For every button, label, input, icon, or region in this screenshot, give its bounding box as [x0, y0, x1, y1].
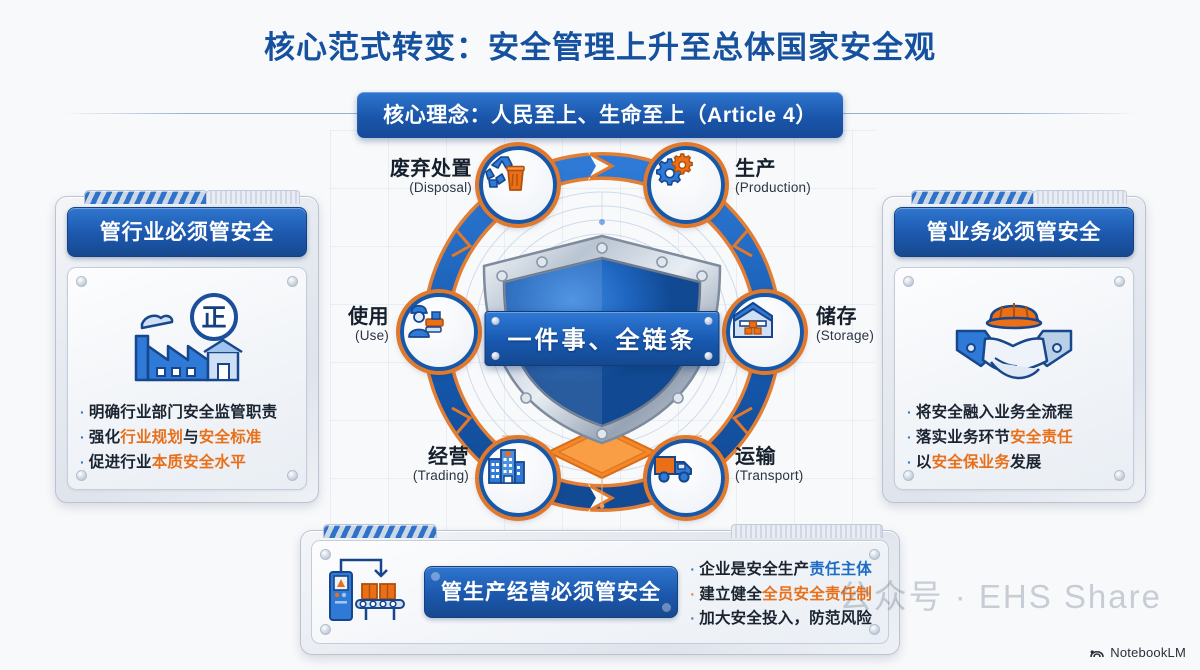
- node-label-production: 生产 (Production): [735, 158, 811, 196]
- text-run: 本质安全水平: [152, 454, 246, 471]
- panel-body-business: ·将安全融入业务全流程 ·落实业务环节安全责任 ·以安全保业务发展: [894, 267, 1134, 490]
- office-building-icon: [483, 443, 529, 489]
- handshake-helmet-icon: [907, 282, 1121, 394]
- list-item: ·强化行业规划与安全标准: [80, 425, 294, 450]
- node-label-trading: 经营 (Trading): [364, 446, 469, 484]
- subtitle-banner: 核心理念：人民至上、生命至上（Article 4）: [357, 92, 843, 138]
- text-run: 安全保业务: [932, 454, 1011, 471]
- center-banner-text: 一件事、全链条: [508, 327, 697, 354]
- node-label-transport: 运输 (Transport): [735, 446, 803, 484]
- production-line-icon: [326, 554, 414, 631]
- slide-canvas: 核心范式转变：安全管理上升至总体国家安全观 核心理念：人民至上、生命至上（Art…: [0, 0, 1200, 670]
- list-item: ·促进行业本质安全水平: [80, 450, 294, 475]
- text-run: 强化: [89, 429, 120, 446]
- panel-body-production-operations: 管生产经营必须管安全 ·企业是安全生产责任主体 ·建立健全全员安全责任制 ·加大…: [311, 540, 889, 644]
- list-item: ·落实业务环节安全责任: [907, 425, 1121, 450]
- notebooklm-logo-icon: [1090, 646, 1105, 659]
- panel-heading-industry: 管行业必须管安全: [67, 207, 307, 257]
- text-run: 建立健全: [699, 586, 762, 603]
- text-run: 与: [183, 429, 199, 446]
- warehouse-icon: [730, 297, 776, 343]
- text-run: 企业是安全生产: [699, 561, 809, 578]
- node-storage[interactable]: [726, 293, 804, 371]
- node-disposal[interactable]: [479, 146, 557, 224]
- worker-tool-icon: [404, 297, 450, 343]
- notebooklm-badge: NotebookLM: [1090, 645, 1186, 660]
- node-transport[interactable]: [647, 439, 725, 517]
- text-run: 发展: [1010, 454, 1041, 471]
- screw-icon: [320, 549, 331, 560]
- bottom-tag-label: 管生产经营必须管安全: [424, 566, 678, 618]
- screw-icon: [869, 624, 880, 635]
- text-run: 明确行业部门安全监管职责: [89, 404, 277, 421]
- node-label-storage: 储存 (Storage): [816, 306, 874, 344]
- watermark-text: 公众号 · EHS Share: [839, 570, 1162, 618]
- text-run: 安全标准: [199, 429, 262, 446]
- text-run: 促进行业: [89, 454, 152, 471]
- panel-production-operations: 管生产经营必须管安全 ·企业是安全生产责任主体 ·建立健全全员安全责任制 ·加大…: [300, 530, 900, 655]
- panel-frame: 管业务必须管安全: [882, 196, 1146, 503]
- screw-icon: [903, 470, 914, 481]
- text-run: 将安全融入业务全流程: [916, 404, 1073, 421]
- node-use[interactable]: [400, 293, 478, 371]
- notebooklm-label: NotebookLM: [1110, 645, 1186, 660]
- screw-icon: [320, 624, 331, 635]
- node-production[interactable]: [647, 146, 725, 224]
- panel-business: 管业务必须管安全: [882, 196, 1146, 503]
- lifecycle-diagram: 一件事、全链条 生产 (Production): [352, 136, 852, 528]
- text-run: 安全责任: [1010, 429, 1073, 446]
- panel-frame: 管行业必须管安全: [55, 196, 319, 503]
- node-label-use: 使用 (Use): [284, 306, 389, 344]
- bullet-list-industry: ·明确行业部门安全监管职责 ·强化行业规划与安全标准 ·促进行业本质安全水平: [80, 400, 294, 475]
- list-item: ·明确行业部门安全监管职责: [80, 400, 294, 425]
- panel-heading-business: 管业务必须管安全: [894, 207, 1134, 257]
- screw-icon: [1114, 470, 1125, 481]
- screw-icon: [287, 276, 298, 287]
- factory-icon: 正: [80, 282, 294, 394]
- bullet-list-business: ·将安全融入业务全流程 ·落实业务环节安全责任 ·以安全保业务发展: [907, 400, 1121, 475]
- list-item: ·将安全融入业务全流程: [907, 400, 1121, 425]
- panel-frame: 管生产经营必须管安全 ·企业是安全生产责任主体 ·建立健全全员安全责任制 ·加大…: [300, 530, 900, 655]
- list-item: ·以安全保业务发展: [907, 450, 1121, 475]
- center-banner: 一件事、全链条: [485, 311, 720, 366]
- gears-icon: [651, 150, 697, 196]
- svg-text:正: 正: [201, 304, 226, 332]
- truck-icon: [651, 443, 697, 489]
- node-label-disposal: 废弃处置 (Disposal): [332, 158, 472, 196]
- screw-icon: [869, 549, 880, 560]
- screw-icon: [1114, 276, 1125, 287]
- screw-icon: [903, 276, 914, 287]
- node-trading[interactable]: [479, 439, 557, 517]
- recycle-bin-icon: [483, 150, 529, 196]
- screw-icon: [76, 276, 87, 287]
- screw-icon: [287, 470, 298, 481]
- text-run: 落实业务环节: [916, 429, 1010, 446]
- page-title: 核心范式转变：安全管理上升至总体国家安全观: [0, 22, 1200, 67]
- text-run: 以: [916, 454, 932, 471]
- panel-industry: 管行业必须管安全: [55, 196, 319, 503]
- screw-icon: [76, 470, 87, 481]
- panel-body-industry: 正 ·明确行业部门安全监管职责 ·强化行业规划与安全标准 ·促进行业本质安全水平: [67, 267, 307, 490]
- text-run: 行业规划: [120, 429, 183, 446]
